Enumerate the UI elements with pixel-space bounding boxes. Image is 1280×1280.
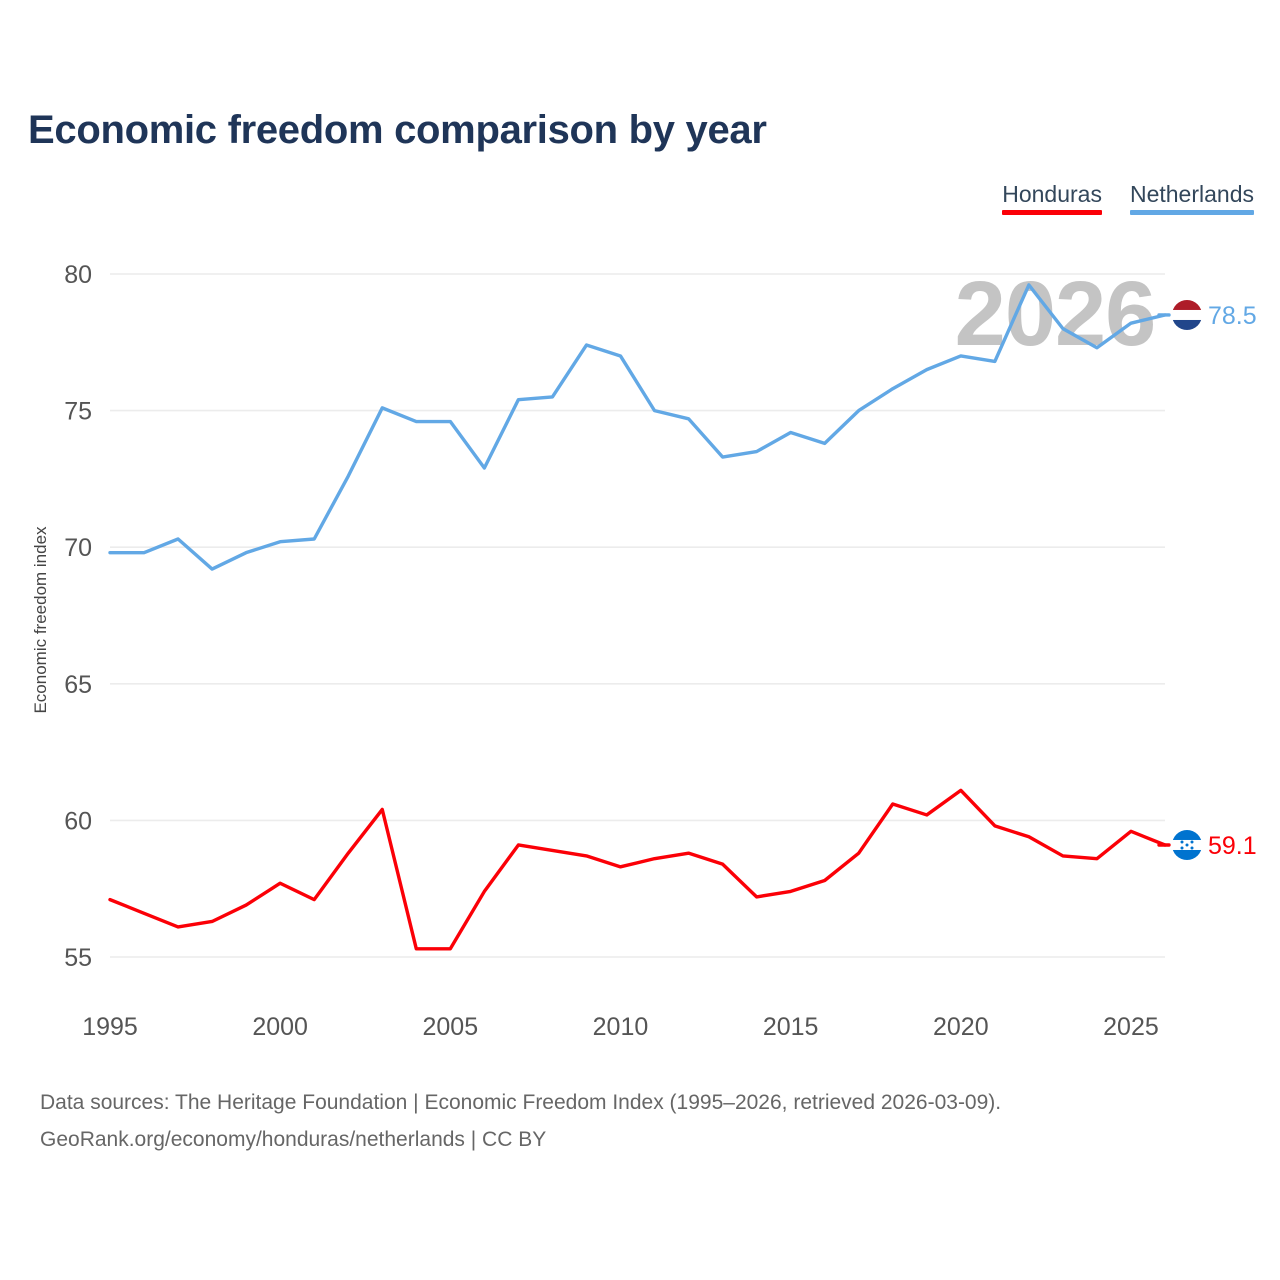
x-axis-ticks: 1995200020052010201520202025 [82,1013,1159,1041]
honduras-endpoint: 59.1 [1208,832,1257,860]
x-tick-label: 1995 [82,1013,138,1041]
series-line-honduras [110,790,1165,948]
chart-footer: Data sources: The Heritage Foundation | … [40,1085,1001,1159]
year-watermark: 2026 [955,263,1156,365]
footer-line-sources: Data sources: The Heritage Foundation | … [40,1085,1001,1122]
y-axis-title: Economic freedom index [31,526,50,714]
honduras-flag-icon [1172,830,1202,860]
netherlands-endpoint: 78.5 [1208,302,1257,330]
y-tick-label: 70 [64,534,92,562]
line-chart: 556065707580 199520002005201020152020202… [0,0,1280,1060]
netherlands-flag-icon [1172,300,1202,330]
chart-page: Economic freedom comparison by year Hond… [0,0,1280,1280]
y-tick-label: 65 [64,671,92,699]
x-tick-label: 2010 [593,1013,649,1041]
gridlines [110,274,1165,957]
y-tick-label: 55 [64,944,92,972]
footer-line-attribution: GeoRank.org/economy/honduras/netherlands… [40,1122,1001,1159]
x-tick-label: 2000 [252,1013,308,1041]
x-tick-label: 2025 [1103,1013,1159,1041]
y-tick-label: 80 [64,261,92,289]
endpoint-markers: 78.559.1 [1159,300,1257,860]
y-tick-label: 60 [64,807,92,835]
x-tick-label: 2005 [423,1013,479,1041]
x-tick-label: 2015 [763,1013,819,1041]
y-axis-ticks: 556065707580 [64,261,92,972]
y-tick-label: 75 [64,398,92,426]
x-tick-label: 2020 [933,1013,989,1041]
chart-plot-area: 556065707580 199520002005201020152020202… [0,0,1280,1060]
data-series [110,285,1165,949]
